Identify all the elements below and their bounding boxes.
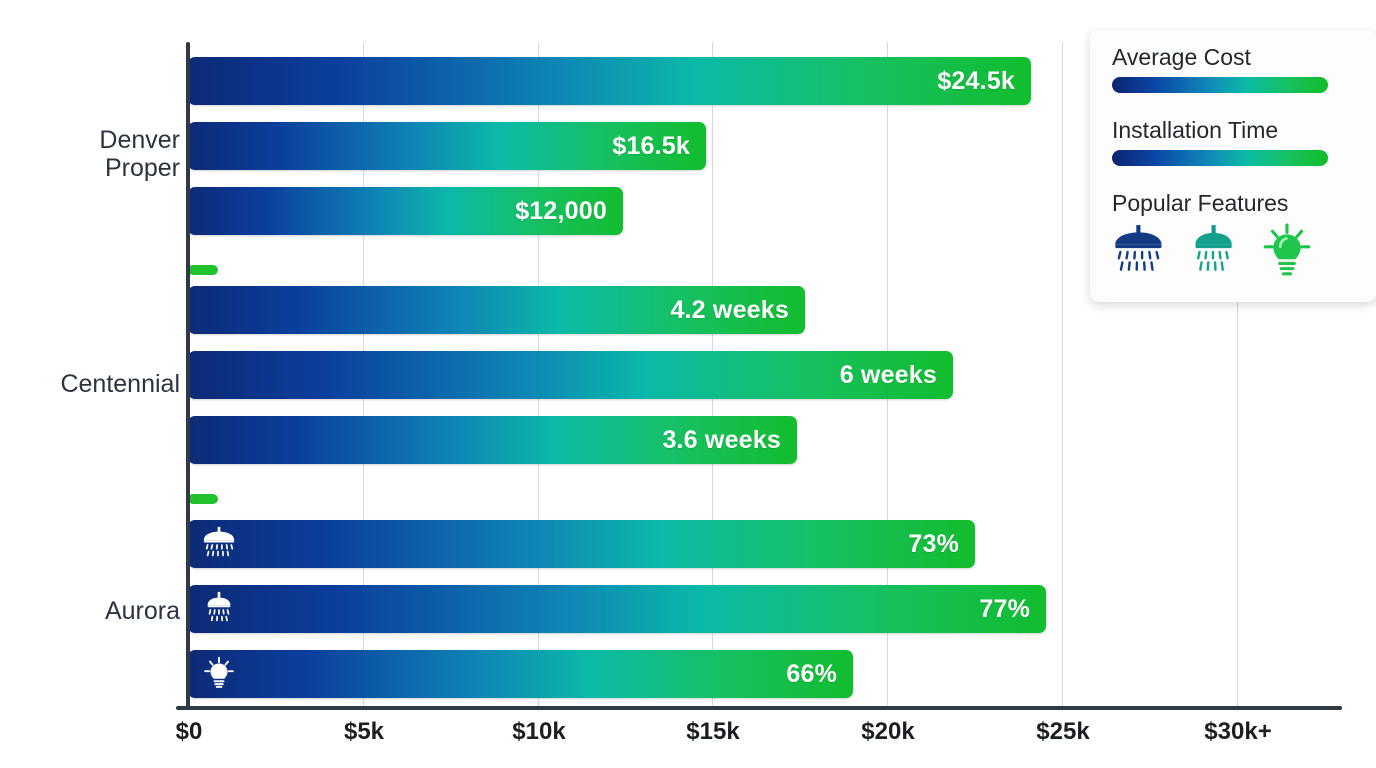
legend-swatch-average-cost bbox=[1112, 77, 1328, 93]
bar-value-label: 73% bbox=[908, 530, 959, 559]
bar-stub[interactable] bbox=[188, 494, 218, 504]
bar[interactable]: 6 weeks bbox=[188, 351, 953, 399]
x-tick-label: $30k+ bbox=[1204, 718, 1271, 746]
legend-title-popular-features: Popular Features bbox=[1112, 190, 1376, 217]
x-tick-label: $20k bbox=[861, 718, 914, 746]
bar[interactable]: 4.2 weeks bbox=[188, 286, 805, 334]
bar[interactable]: $12,000 bbox=[188, 187, 623, 235]
bar-stub[interactable] bbox=[188, 265, 218, 275]
bar-value-label: 77% bbox=[979, 595, 1030, 624]
rain-shower-icon bbox=[1112, 223, 1166, 279]
x-tick-label: $15k bbox=[686, 718, 739, 746]
legend-feature-icons bbox=[1112, 223, 1376, 279]
category-label-denver-proper: Denver Proper bbox=[99, 126, 180, 182]
bar-value-label: 3.6 weeks bbox=[662, 426, 781, 455]
lightbulb-icon bbox=[200, 655, 238, 693]
x-tick-label: $0 bbox=[176, 718, 203, 746]
legend-swatch-installation-time bbox=[1112, 150, 1328, 166]
shower-head-icon bbox=[200, 590, 238, 628]
gridline bbox=[1062, 42, 1063, 707]
bar[interactable]: $24.5k bbox=[188, 57, 1031, 105]
x-tick-label: $10k bbox=[512, 718, 565, 746]
bar[interactable]: 66% bbox=[188, 650, 853, 698]
bar-value-label: 4.2 weeks bbox=[670, 296, 789, 325]
x-axis-line bbox=[176, 706, 1342, 710]
bar[interactable]: 73% bbox=[188, 520, 975, 568]
bar-value-label: 6 weeks bbox=[840, 361, 937, 390]
bar-value-label: $16.5k bbox=[612, 132, 690, 161]
category-label-aurora: Aurora bbox=[105, 597, 180, 625]
category-label-centennial: Centennial bbox=[60, 370, 180, 398]
shower-head-icon bbox=[1188, 223, 1240, 279]
bar[interactable]: 77% bbox=[188, 585, 1046, 633]
legend: Average Cost Installation Time Popular F… bbox=[1090, 30, 1376, 302]
y-axis-line bbox=[186, 42, 190, 709]
x-tick-label: $25k bbox=[1036, 718, 1089, 746]
bar-value-label: 66% bbox=[786, 660, 837, 689]
lightbulb-icon bbox=[1262, 223, 1312, 279]
legend-title-average-cost: Average Cost bbox=[1112, 44, 1376, 71]
bar[interactable]: $16.5k bbox=[188, 122, 706, 170]
x-tick-label: $5k bbox=[344, 718, 384, 746]
bar-value-label: $12,000 bbox=[515, 197, 607, 226]
legend-title-installation-time: Installation Time bbox=[1112, 117, 1376, 144]
bar-value-label: $24.5k bbox=[937, 67, 1015, 96]
rain-shower-icon bbox=[200, 525, 238, 563]
bar-chart: $24.5k $16.5k $12,000 4.2 weeks 6 weeks bbox=[0, 0, 1376, 768]
bar[interactable]: 3.6 weeks bbox=[188, 416, 797, 464]
